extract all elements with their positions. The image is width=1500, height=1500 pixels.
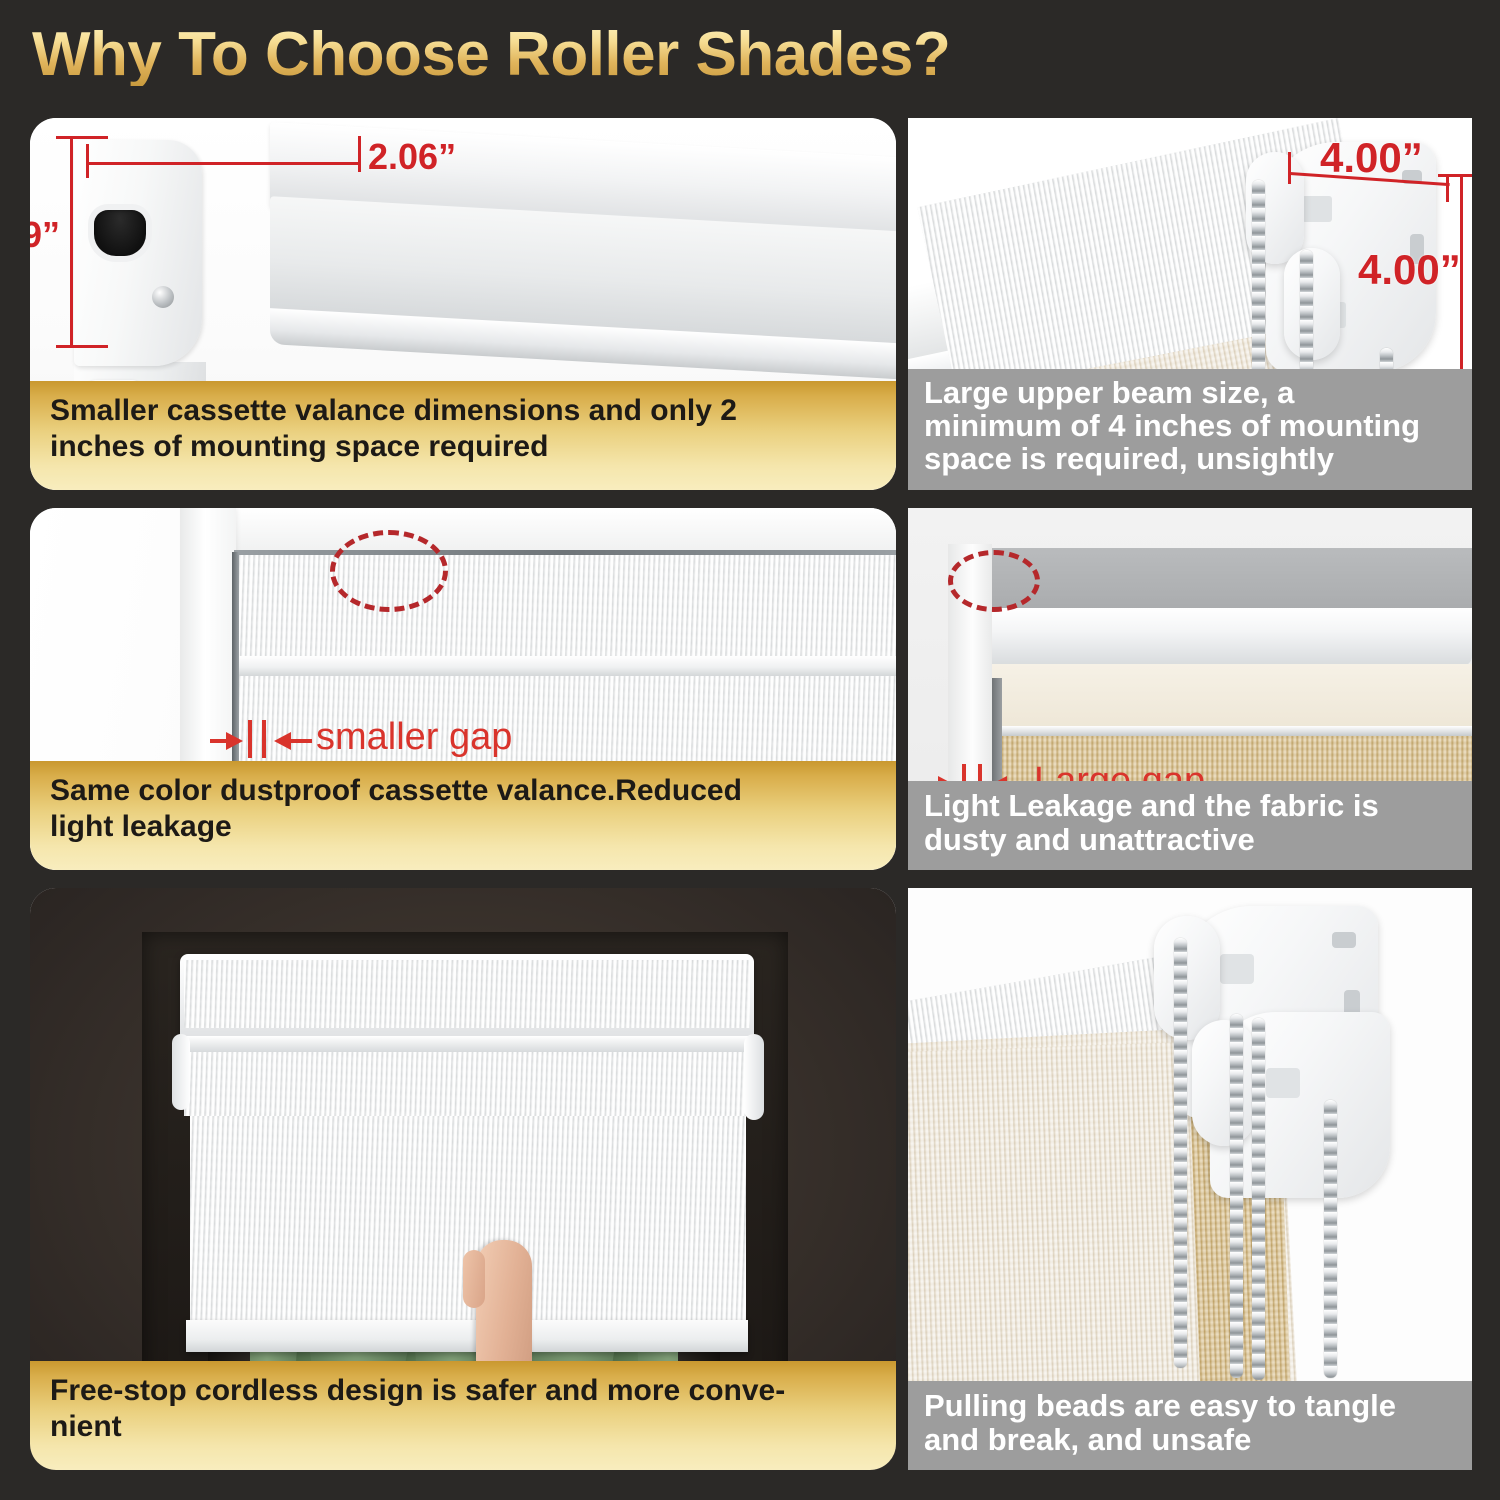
caption-line: Free-stop cordless design is safer and m…: [50, 1373, 876, 1408]
cassette-end-left: [172, 1034, 190, 1110]
bead-chain: [1324, 1100, 1337, 1378]
valance-bottom-rail: [178, 1036, 756, 1052]
panel-smaller-gap: smaller gap Same color dustproof cassett…: [30, 508, 896, 870]
gap-highlight-circle: [330, 530, 448, 612]
height-dimension-line: [70, 136, 73, 348]
fabric-front-face: [908, 1042, 1201, 1439]
bead-chain: [1174, 938, 1187, 1368]
panel-1-caption: Smaller cassette valance dimensions and …: [30, 381, 896, 490]
panel-2-caption: Large upper beam size, a minimum of 4 in…: [908, 369, 1472, 490]
panel-large-gap: Large gap Light Leakage and the fabric i…: [908, 508, 1472, 870]
height-dimension-label: 5.49”: [30, 214, 60, 256]
valance-endcap: [74, 140, 202, 366]
panel-4-caption: Light Leakage and the fabric is dusty an…: [908, 781, 1472, 870]
caption-line: dusty and unattractive: [924, 823, 1456, 856]
width-tick-right: [358, 136, 361, 172]
endcap-slot: [94, 210, 146, 256]
caption-line: space is required, unsightly: [924, 443, 1456, 476]
smaller-gap-label: smaller gap: [316, 716, 512, 759]
window-frame-top: [180, 508, 896, 552]
beam-width-tick-left: [1288, 152, 1291, 184]
roller-tube: [986, 608, 1472, 666]
width-dimension-line: [86, 162, 360, 165]
caption-line: nient: [50, 1409, 876, 1444]
shade-bottom-rail: [186, 1320, 748, 1352]
beam-height-tick-top: [1438, 174, 1472, 177]
panel-5-caption: Free-stop cordless design is safer and m…: [30, 1361, 896, 1470]
panel-large-upper-beam: 4.00” 4.00” Large upper beam size, a min…: [908, 118, 1472, 490]
bracket-notch: [1332, 932, 1356, 948]
cassette-end-right: [744, 1034, 764, 1120]
gap-arrow-stem-right: [290, 739, 312, 743]
caption-line: inches of mounting space required: [50, 429, 876, 464]
caption-line: Light Leakage and the fabric is: [924, 789, 1456, 822]
grey-band-upper: [988, 548, 1472, 614]
caption-line: light leakage: [50, 809, 876, 844]
beam-width-label: 4.00”: [1320, 134, 1423, 182]
panel-6-caption: Pulling beads are easy to tangle and bre…: [908, 1381, 1472, 1470]
bead-chain: [1252, 1018, 1265, 1380]
caption-line: Smaller cassette valance dimensions and …: [50, 393, 876, 428]
infographic-root: Why To Choose Roller Shades? 2.06” 5.49”: [0, 0, 1500, 1500]
width-dimension-label: 2.06”: [368, 136, 456, 178]
beam-width-tick-right: [1446, 174, 1449, 202]
beam-height-label: 4.00”: [1358, 246, 1461, 294]
panel-pulling-beads: Pulling beads are easy to tangle and bre…: [908, 888, 1472, 1470]
roller-end-disc: [1154, 916, 1220, 1040]
shade-mid-rail: [234, 656, 896, 676]
panel-smaller-cassette: 2.06” 5.49” Smaller cassette valance dim…: [30, 118, 896, 490]
gap-arrow-stem-left: [210, 739, 230, 743]
gap-highlight-circle: [948, 550, 1040, 612]
page-title: Why To Choose Roller Shades?: [32, 24, 950, 86]
gap-marker-bar: [262, 720, 266, 758]
height-tick-top: [56, 136, 108, 139]
caption-line: Same color dustproof cassette valance.Re…: [50, 773, 876, 808]
bracket-arrow-emboss: [1302, 196, 1332, 222]
roller-bottom-edge: [986, 726, 1472, 736]
caption-line: Large upper beam size, a: [924, 377, 1456, 410]
cream-fabric-band: [986, 664, 1472, 728]
roller-end-disc-lower: [1192, 1020, 1256, 1146]
bracket-arrow-emboss: [1266, 1068, 1300, 1098]
shade-fabric-upper: [184, 1052, 750, 1116]
panel-free-stop-cordless: Free-stop cordless design is safer and m…: [30, 888, 896, 1470]
bead-chain: [1230, 1014, 1243, 1378]
width-tick-left: [86, 144, 89, 178]
gap-arrow-left: [274, 732, 291, 750]
endcap-screw: [152, 286, 174, 308]
caption-line: minimum of 4 inches of mounting: [924, 410, 1456, 443]
bracket-arrow-emboss: [1220, 954, 1254, 984]
caption-line: and break, and unsafe: [924, 1423, 1456, 1456]
caption-line: Pulling beads are easy to tangle: [924, 1389, 1456, 1422]
valance-face-fabric: [184, 960, 750, 1028]
shade-top-seam: [234, 550, 896, 555]
gap-marker-bar: [248, 720, 252, 758]
height-tick-bottom: [56, 345, 108, 348]
panel-3-caption: Same color dustproof cassette valance.Re…: [30, 761, 896, 870]
